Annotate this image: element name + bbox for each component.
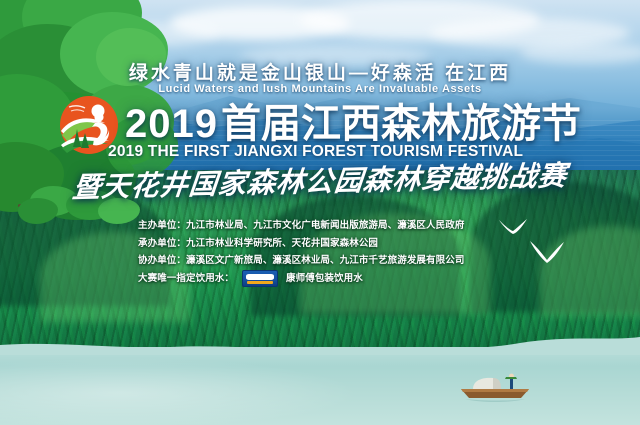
tagline-chinese: 绿水青山就是金山银山—好森活 在江西 (0, 58, 640, 85)
credit-label: 协办单位： (138, 252, 186, 270)
credit-line-water-sponsor: 大赛唯一指定饮用水： 康师傅包装饮用水 (138, 270, 558, 288)
credits-block: 主办单位：九江市林业局、九江市文化广电新闻出版旅游局、濂溪区人民政府 承办单位：… (138, 217, 558, 287)
credit-value: 九江市林业科学研究所、天花井国家森林公园 (186, 235, 378, 253)
credit-line-host: 承办单位：九江市林业科学研究所、天花井国家森林公园 (138, 235, 558, 253)
forest-tourism-festival-poster: 绿水青山就是金山银山—好森活 在江西 Lucid Waters and lush… (0, 0, 640, 425)
lake-reflection (0, 347, 640, 425)
credit-line-co-organizer: 协办单位：濂溪区文广新旅局、濂溪区林业局、九江市千艺旅游发展有限公司 (138, 252, 558, 270)
credit-label: 承办单位： (138, 235, 186, 253)
master-kong-logo (242, 270, 278, 287)
credit-value: 九江市林业局、九江市文化广电新闻出版旅游局、濂溪区人民政府 (186, 217, 464, 235)
water-sponsor-label: 大赛唯一指定饮用水： (138, 270, 234, 288)
credit-line-organizer: 主办单位：九江市林业局、九江市文化广电新闻出版旅游局、濂溪区人民政府 (138, 217, 558, 235)
badge-wave-shape (246, 274, 274, 280)
fishing-boat (455, 372, 535, 402)
credit-label: 主办单位： (138, 217, 186, 235)
water-sponsor-brand: 康师傅包装饮用水 (286, 270, 363, 288)
title-chinese: 首届江西森林旅游节 (221, 102, 581, 146)
tagline-english: Lucid Waters and lush Mountains Are Inva… (0, 83, 640, 95)
credit-value: 濂溪区文广新旅局、濂溪区林业局、九江市千艺旅游发展有限公司 (186, 252, 464, 270)
badge-bar-shape (247, 281, 273, 284)
page-title: 2019首届江西森林旅游节 (125, 104, 581, 144)
title-year: 2019 (125, 102, 218, 146)
